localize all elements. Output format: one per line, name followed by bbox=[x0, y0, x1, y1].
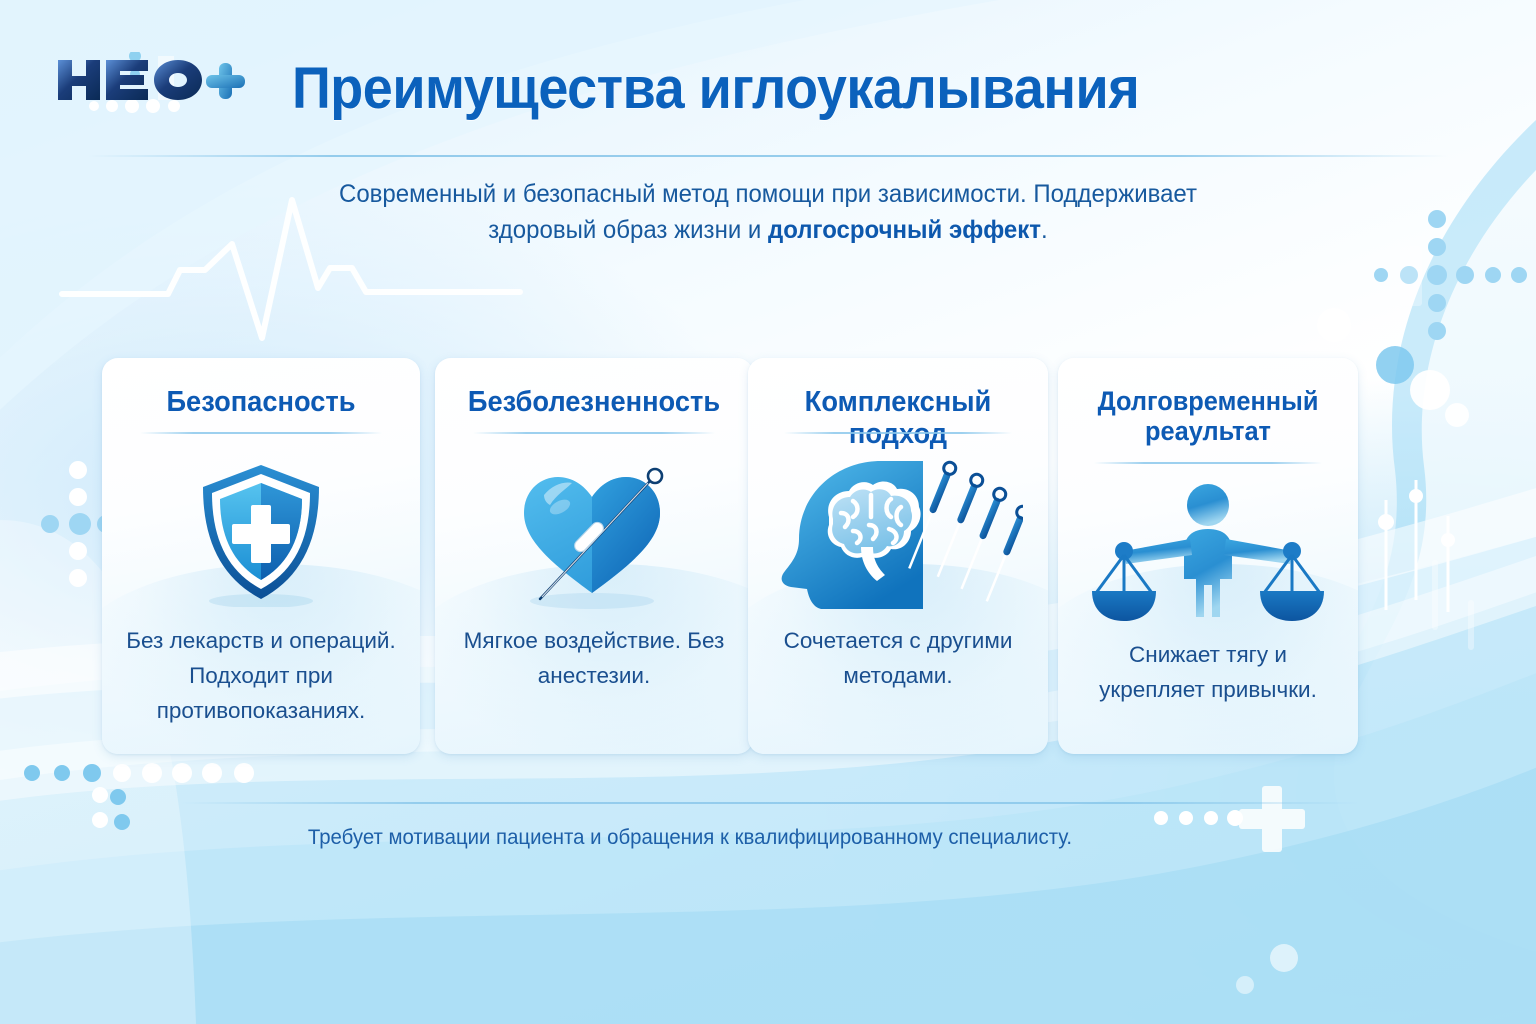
footer-note: Требует мотивации пациента и обращения к… bbox=[21, 826, 1360, 850]
benefit-card-painless[interactable]: Безболезненность bbox=[435, 358, 753, 754]
card-title: Безболезненность bbox=[445, 386, 744, 418]
benefit-card-complex-approach[interactable]: Комплексный подход bbox=[748, 358, 1048, 754]
card-title-divider bbox=[473, 432, 715, 434]
dot-pattern-bottom-left bbox=[24, 763, 254, 830]
subtitle-line-1: Современный и безопасный метод помощи пр… bbox=[339, 180, 1197, 208]
page-header: Преимущества иглоукалывания bbox=[0, 0, 1536, 156]
card-text: Мягкое воздействие. Без анестезии. bbox=[435, 624, 753, 754]
card-text: Без лекарств и операций. Подходит при пр… bbox=[102, 624, 420, 754]
card-text: Снижает тягу и укрепляет привычки. bbox=[1058, 638, 1358, 754]
dot-row-bottom bbox=[1154, 810, 1243, 826]
header-divider bbox=[88, 155, 1448, 157]
heart-needle-icon bbox=[435, 454, 753, 614]
subtitle-line-2-prefix: здоровый образ жизни и bbox=[488, 216, 768, 244]
card-title: Долговременный реаультат bbox=[1067, 386, 1349, 446]
subtitle: Современный и безопасный метод помощи пр… bbox=[288, 176, 1248, 249]
card-title-divider bbox=[784, 432, 1012, 434]
card-title: Безопасность bbox=[112, 386, 411, 418]
brand-logo[interactable] bbox=[52, 52, 252, 112]
card-title: Комплексный подход bbox=[757, 386, 1039, 451]
card-title-divider bbox=[140, 432, 382, 434]
card-text: Сочетается с другими методами. bbox=[748, 624, 1048, 754]
benefit-card-safety[interactable]: Безопасность bbox=[102, 358, 420, 754]
footer-divider bbox=[180, 802, 1360, 804]
shield-cross-icon bbox=[102, 454, 420, 614]
benefit-card-long-term-result[interactable]: Долговременный реаультат bbox=[1058, 358, 1358, 754]
benefit-cards: Безопасность bbox=[0, 358, 1536, 758]
card-title-divider bbox=[1094, 462, 1322, 464]
head-brain-needles-icon bbox=[748, 454, 1048, 614]
balance-scales-person-icon bbox=[1058, 476, 1358, 626]
logo-dots bbox=[89, 99, 180, 113]
subtitle-line-2-suffix: . bbox=[1041, 216, 1048, 244]
page-title: Преимущества иглоукалывания bbox=[292, 55, 1139, 122]
infographic-canvas: Преимущества иглоукалывания Современный … bbox=[0, 0, 1536, 1024]
subtitle-highlight: долгосрочный эффект bbox=[768, 216, 1041, 244]
dot-pattern-top-right bbox=[1374, 210, 1527, 340]
